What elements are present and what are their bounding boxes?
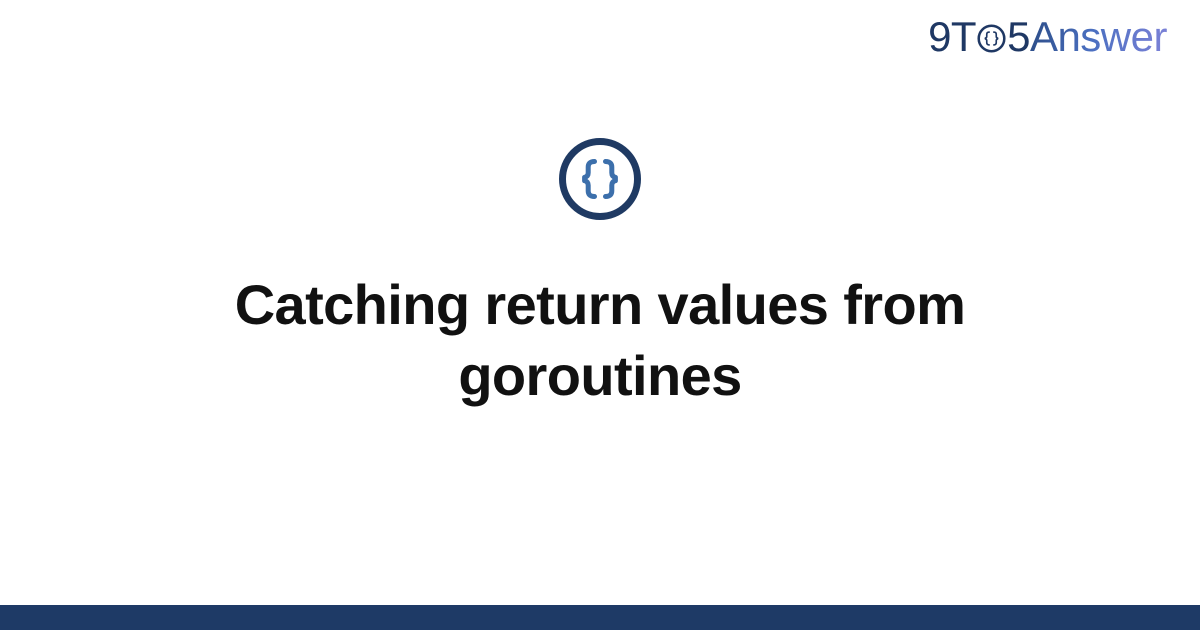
- share-card: 9T 5 Answer Catching return values from …: [0, 0, 1200, 630]
- page-title: Catching return values from goroutines: [150, 270, 1050, 411]
- site-logo[interactable]: 9T 5 Answer: [928, 16, 1167, 58]
- footer-bar: [0, 605, 1200, 630]
- code-braces-circle-icon: [558, 137, 642, 221]
- emblem-container: [0, 137, 1200, 221]
- braces-circle-icon: [976, 23, 1007, 54]
- logo-text-middle: 5: [1007, 16, 1030, 58]
- logo-text-prefix: 9T: [928, 16, 976, 58]
- logo-text-suffix: Answer: [1030, 16, 1167, 58]
